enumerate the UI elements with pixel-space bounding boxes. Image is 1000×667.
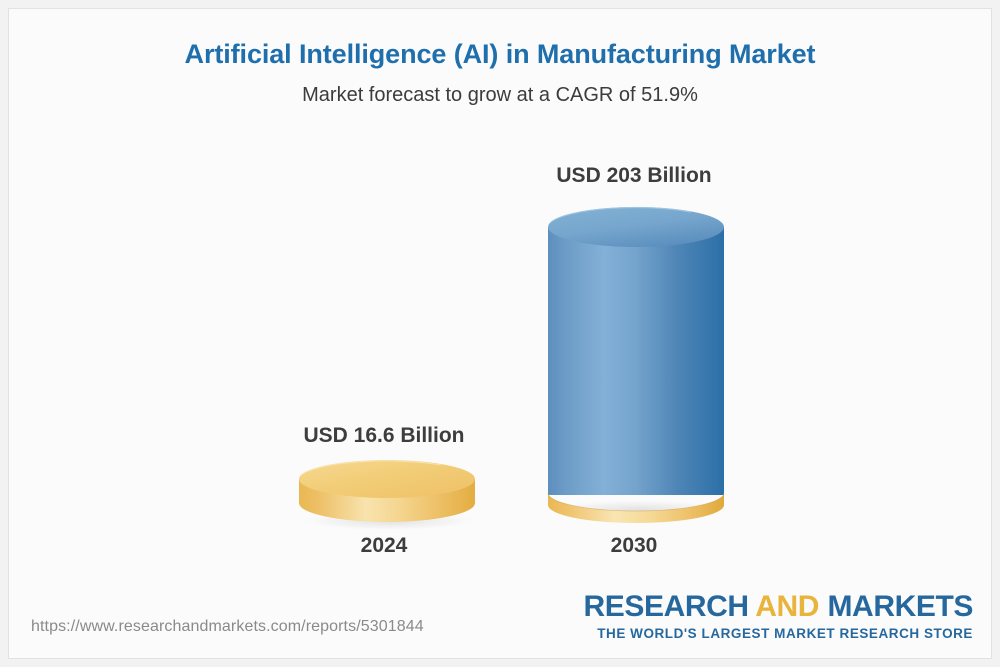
brand-logo[interactable]: RESEARCHANDMARKETS THE WORLD'S LARGEST M… [584,592,973,641]
chart-canvas: Artificial Intelligence (AI) in Manufact… [8,8,992,659]
logo-word-research: RESEARCH [584,590,749,623]
infographic-root: Artificial Intelligence (AI) in Manufact… [0,0,1000,667]
bar-body-2030 [548,227,724,495]
chart-footer: https://www.researchandmarkets.com/repor… [9,578,991,658]
logo-word-markets: MARKETS [827,590,973,623]
bar-cylinder-2024 [291,459,481,531]
chart-plot-area: USD 16.6 Billion USD 203 Billion 2024 20… [9,9,991,658]
bar-category-label-2030: 2030 [544,534,724,558]
logo-tagline: THE WORLD'S LARGEST MARKET RESEARCH STOR… [584,627,973,641]
bar-value-label-2024: USD 16.6 Billion [274,424,494,448]
bar-value-label-2030: USD 203 Billion [524,164,744,188]
logo-word-and: AND [755,590,819,623]
bar-category-label-2024: 2024 [294,534,474,558]
bar-cylinder-2030 [539,205,735,535]
source-url-link[interactable]: https://www.researchandmarkets.com/repor… [31,618,424,636]
logo-wordmark: RESEARCHANDMARKETS [584,592,973,622]
